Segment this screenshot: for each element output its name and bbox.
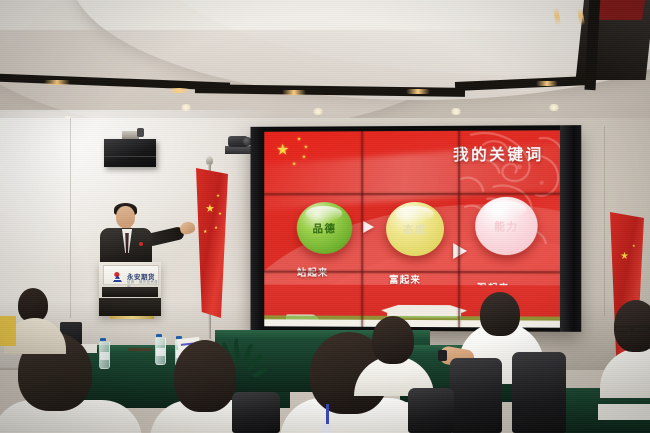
- wall-speaker-icon: [104, 139, 156, 167]
- arrow-right-icon: [363, 221, 374, 233]
- audience-sleeve: [0, 316, 16, 346]
- slide-bubble-2: 态度: [386, 202, 444, 256]
- downlight: [312, 108, 324, 115]
- cove-light: [536, 81, 558, 86]
- slide-title: 我的关键词: [453, 142, 544, 164]
- flag-star-small-icon: ★: [214, 226, 218, 231]
- bubble-gloss: [306, 206, 343, 222]
- bubble-gloss: [395, 206, 433, 222]
- wristwatch: [438, 350, 447, 361]
- panel-seam-v: [458, 131, 460, 327]
- office-chair: [232, 392, 280, 433]
- audience-head: [18, 288, 48, 322]
- office-chair: [450, 358, 502, 433]
- wall-seam: [604, 126, 605, 316]
- audience-head: [174, 340, 236, 412]
- podium-base: [99, 298, 161, 316]
- cove-light: [44, 80, 70, 85]
- badge: [322, 424, 331, 433]
- audience-head: [372, 316, 414, 364]
- bubble-label: 品德: [313, 221, 337, 236]
- led-video-wall[interactable]: ★ ★ ★ ★ ★ 我的关键词 品德 态度 能力 站起来 富起来 强: [250, 125, 581, 332]
- notebook: [598, 404, 650, 420]
- panel-seam-v: [361, 131, 363, 326]
- audience-head: [480, 292, 520, 336]
- water-bottle: [155, 337, 166, 365]
- cove-light: [168, 88, 190, 93]
- cove-light: [406, 89, 430, 94]
- speaker-knob: [137, 128, 144, 137]
- flag-star-small-icon: ★: [297, 138, 301, 143]
- office-chair: [408, 388, 454, 433]
- flag-star-small-icon: ★: [302, 155, 306, 160]
- flag-star-small-icon: ★: [203, 230, 207, 235]
- downlight: [548, 104, 560, 111]
- flag-star-small-icon: ★: [632, 244, 636, 248]
- company-logo-icon: [111, 271, 124, 284]
- bubble-label: 能力: [494, 218, 518, 233]
- bubble-gloss: [485, 201, 526, 219]
- glasses-icon: [614, 326, 632, 332]
- bottle-label: [156, 348, 165, 356]
- flag-star-large-icon: ★: [620, 252, 629, 262]
- slide-bubble-1: 品德: [297, 202, 352, 254]
- slide-sublabel-2: 富起来: [389, 272, 421, 286]
- video-wall-bezel-left: [250, 127, 264, 330]
- flag-star-small-icon: ★: [304, 145, 308, 150]
- flag-star-large-icon: ★: [276, 143, 289, 158]
- bubble-label: 态度: [403, 221, 427, 236]
- podium-logo-panel: 永安期货 证券 · 期货投资咨询: [103, 265, 159, 285]
- pen: [128, 348, 152, 351]
- presentation-slide: ★ ★ ★ ★ ★ 我的关键词 品德 态度 能力 站起来 富起来 强: [264, 130, 560, 327]
- flag-star-small-icon: ★: [218, 212, 222, 217]
- flag-star-large-icon: ★: [205, 204, 215, 215]
- water-bottle: [99, 341, 110, 369]
- plant-leaf: [233, 339, 241, 363]
- ceiling: [0, 0, 650, 128]
- speaker-podium: 永安期货 证券 · 期货投资咨询: [99, 262, 161, 316]
- office-chair: [512, 352, 566, 433]
- conference-room-photo: ★ ★ ★ ★ ★ 我的关键词 品德 态度 能力 站起来 富起来 强: [0, 0, 650, 433]
- flag-star-small-icon: ★: [216, 194, 220, 199]
- glasses-icon: [632, 326, 650, 332]
- downlight: [450, 108, 462, 115]
- flag-star-small-icon: ★: [292, 162, 296, 167]
- wall-seam: [70, 118, 71, 318]
- plant-leaf: [252, 366, 268, 379]
- ceiling-red-accent: [596, 0, 646, 20]
- slide-bubble-3: 能力: [475, 197, 538, 255]
- podium-dark-band: [102, 287, 158, 297]
- presenter-lapel-pin: [139, 242, 143, 246]
- video-wall-bezel-right: [560, 125, 581, 332]
- cove-light: [282, 90, 306, 95]
- bottle-label: [100, 352, 109, 360]
